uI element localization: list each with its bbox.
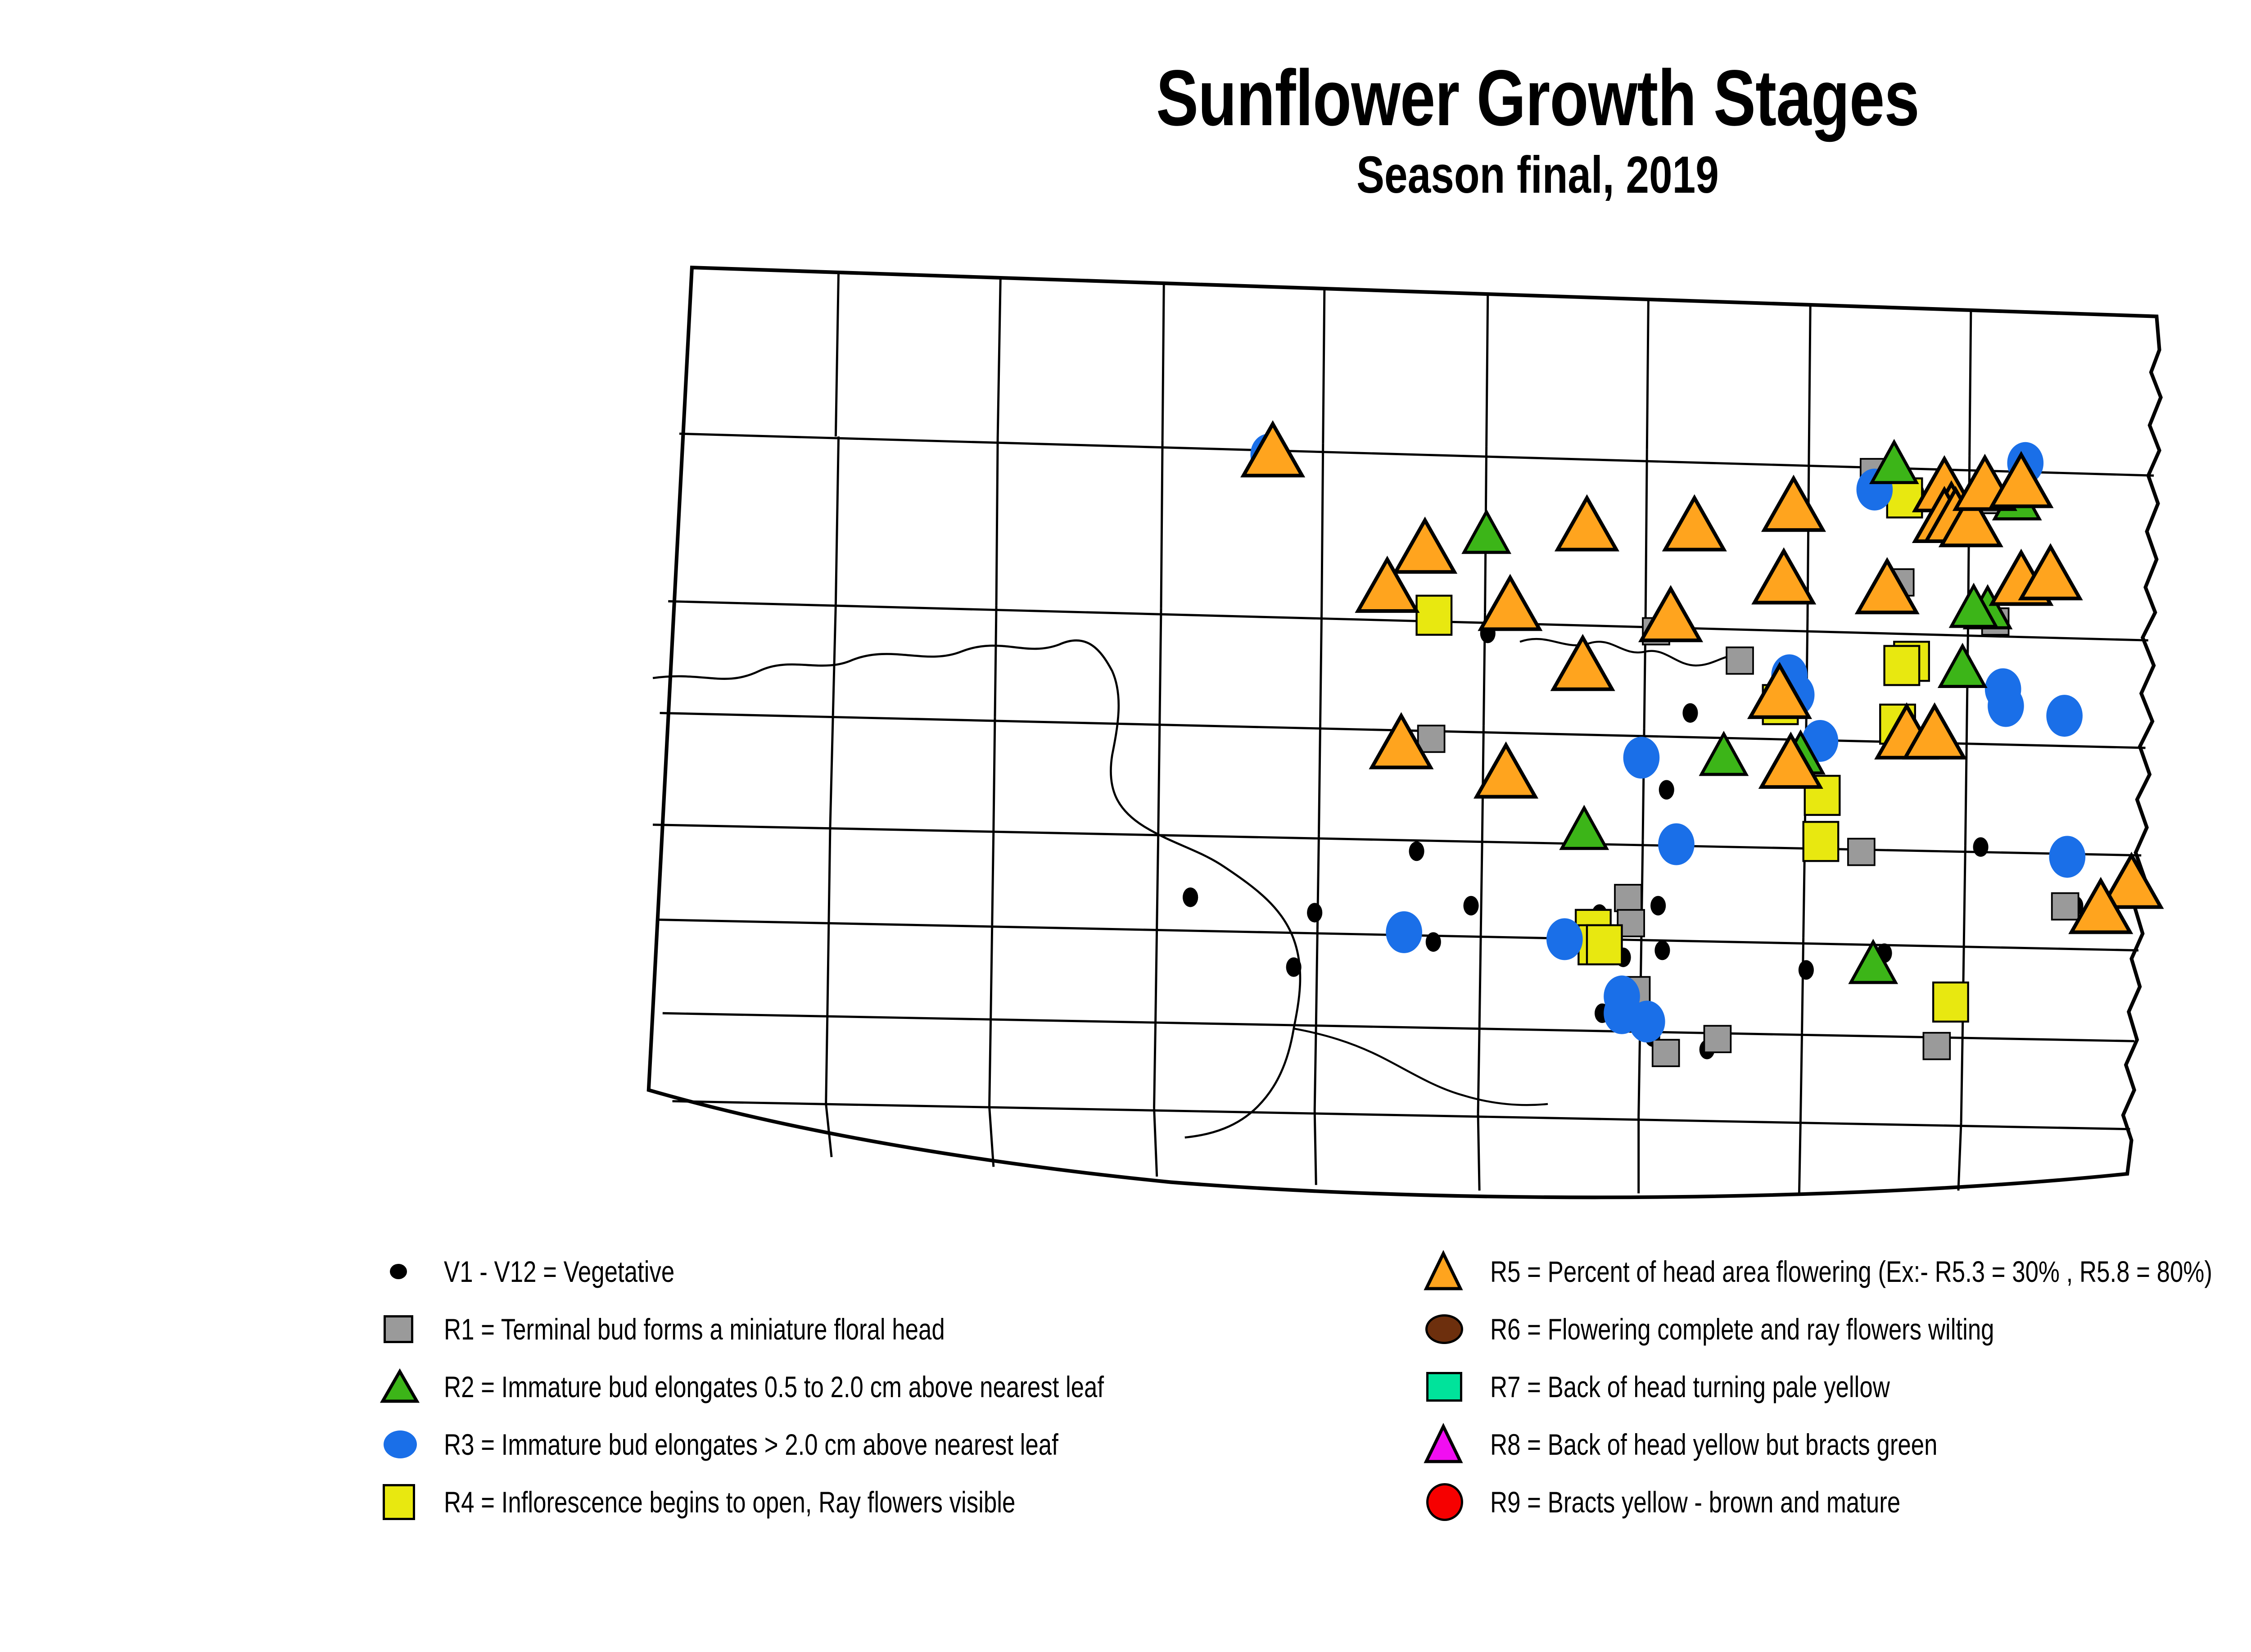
legend-item-r6[interactable]: R6 = Flowering complete and ray flowers … [1423,1300,2251,1358]
r6-brown-circle-icon [1425,1314,1463,1344]
map-marker-v[interactable] [1659,780,1674,799]
legend-item-r1[interactable]: R1 = Terminal bud forms a miniature flor… [378,1300,1441,1358]
map-marker-r3[interactable] [1623,737,1660,778]
map-marker-r4[interactable] [1804,822,1839,861]
legend-label-r3: R3 = Immature bud elongates > 2.0 cm abo… [444,1430,1058,1459]
legend-label-r9: R9 = Bracts yellow - brown and mature [1490,1487,1900,1517]
legend-item-r3[interactable]: R3 = Immature bud elongates > 2.0 cm abo… [378,1416,1441,1473]
map-marker-r4[interactable] [1587,925,1622,964]
map-marker-r1[interactable] [1418,725,1445,752]
legend-label-r6: R6 = Flowering complete and ray flowers … [1490,1314,1994,1344]
map-marker-v[interactable] [1409,842,1424,861]
map-marker-v[interactable] [1973,837,1989,857]
north-dakota-map[interactable] [621,252,2251,1216]
r9-red-circle-icon [1426,1483,1463,1521]
legend-label-r5: R5 = Percent of head area flowering (Ex:… [1490,1257,2212,1286]
map-marker-v[interactable] [1307,903,1322,922]
page-subtitle: Season final, 2019 [307,149,2251,201]
legend-column-left: V1 - V12 = Vegetative R1 = Terminal bud … [378,1243,1441,1531]
map-marker-v[interactable] [1650,896,1666,915]
map-marker-v[interactable] [1799,960,1814,979]
vegetative-dot-icon [390,1264,407,1279]
map-marker-r3[interactable] [1658,823,1695,865]
legend-item-r2[interactable]: R2 = Immature bud elongates 0.5 to 2.0 c… [378,1358,1441,1416]
r3-blue-circle-icon [384,1430,417,1458]
legend-item-r4[interactable]: R4 = Inflorescence begins to open, Ray f… [378,1473,1441,1531]
legend-label-v: V1 - V12 = Vegetative [444,1257,674,1286]
map-marker-v[interactable] [1463,896,1478,915]
map-marker-r3[interactable] [1546,918,1583,960]
legend-label-r8: R8 = Back of head yellow but bracts gree… [1490,1430,1938,1459]
map-marker-r1[interactable] [1848,839,1875,865]
title-block: Sunflower Growth Stages Season final, 20… [0,59,2251,201]
map-marker-r1[interactable] [1727,647,1753,674]
map-marker-r1[interactable] [1653,1040,1679,1066]
legend-item-r8[interactable]: R8 = Back of head yellow but bracts gree… [1423,1416,2251,1473]
map-marker-r1[interactable] [1615,885,1641,911]
map-marker-r3[interactable] [1988,685,2024,727]
map-marker-r1[interactable] [2052,893,2079,920]
map-marker-r3[interactable] [2049,836,2086,878]
legend-label-r2: R2 = Immature bud elongates 0.5 to 2.0 c… [444,1372,1104,1402]
legend: V1 - V12 = Vegetative R1 = Terminal bud … [0,1243,2251,1585]
legend-item-r5[interactable]: R5 = Percent of head area flowering (Ex:… [1423,1243,2251,1300]
r4-yellow-square-icon [383,1484,415,1520]
legend-label-r4: R4 = Inflorescence begins to open, Ray f… [444,1487,1015,1517]
legend-label-r1: R1 = Terminal bud forms a miniature flor… [444,1314,945,1344]
r2-green-triangle-icon [378,1365,421,1408]
legend-item-r7[interactable]: R7 = Back of head turning pale yellow [1423,1358,2251,1416]
r8-magenta-triangle-icon [1423,1422,1466,1467]
legend-column-right: R5 = Percent of head area flowering (Ex:… [1423,1243,2251,1531]
r7-springgreen-square-icon [1426,1372,1462,1402]
map-marker-r3[interactable] [1386,911,1422,953]
map-marker-r4[interactable] [1933,982,1968,1022]
map-marker-r1[interactable] [1704,1026,1731,1052]
map-marker-v[interactable] [1286,957,1302,977]
map-marker-r3[interactable] [2046,695,2083,737]
page-root: Sunflower Growth Stages Season final, 20… [0,0,2251,1652]
page-title: Sunflower Growth Stages [307,59,2251,138]
r1-gray-square-icon [384,1315,413,1343]
legend-label-r7: R7 = Back of head turning pale yellow [1490,1372,1890,1402]
map-marker-r4[interactable] [1885,646,1920,685]
legend-item-r9[interactable]: R9 = Bracts yellow - brown and mature [1423,1473,2251,1531]
map-marker-v[interactable] [1654,941,1670,960]
map-marker-r4[interactable] [1417,596,1452,635]
map-marker-r1[interactable] [1923,1033,1950,1059]
legend-item-v[interactable]: V1 - V12 = Vegetative [378,1243,1441,1300]
map-marker-r3[interactable] [1629,1000,1665,1042]
map-marker-v[interactable] [1426,932,1441,951]
map-marker-v[interactable] [1183,887,1198,907]
map-marker-v[interactable] [1682,703,1698,723]
r5-orange-triangle-icon [1423,1249,1466,1294]
